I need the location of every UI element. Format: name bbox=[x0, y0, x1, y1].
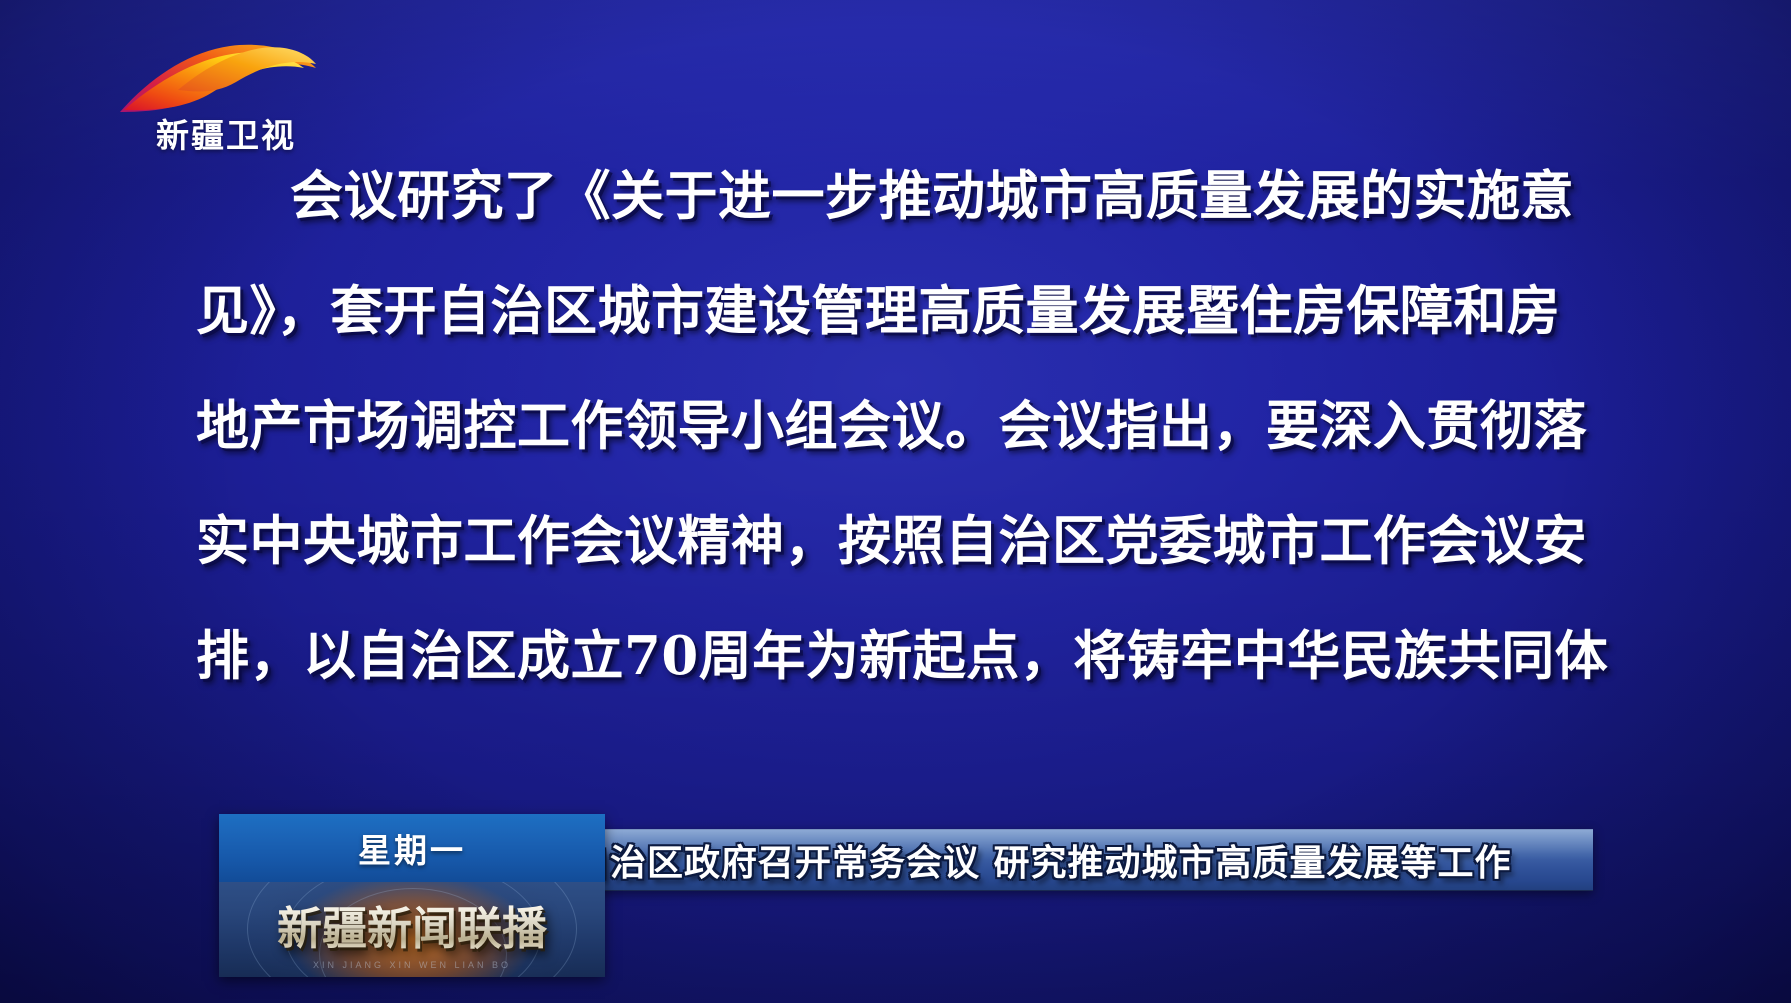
channel-logo: 新疆卫视 bbox=[108, 38, 338, 158]
weekday-label: 星期一 bbox=[358, 824, 466, 872]
body-line: 地产市场调控工作领导小组会议。会议指出，要深入贯彻落 bbox=[196, 380, 1596, 495]
body-line: 排，以自治区成立70周年为新起点，将铸牢中华民族共同体 bbox=[196, 610, 1596, 725]
news-body-text: 会议研究了《关于进一步推动城市高质量发展的实施意 见》，套开自治区城市建设管理高… bbox=[196, 150, 1596, 725]
body-line: 实中央城市工作会议精神，按照自治区党委城市工作会议安 bbox=[196, 495, 1596, 610]
headline-text: 自治区政府召开常务会议 研究推动城市高质量发展等工作 bbox=[573, 829, 1583, 891]
weekday-bar: 星期一 bbox=[219, 814, 605, 882]
body-line: 会议研究了《关于进一步推动城市高质量发展的实施意 bbox=[196, 150, 1596, 265]
program-identity-block: 星期一 新疆新闻联播 XIN JIANG XIN WEN LIAN BO bbox=[219, 814, 605, 977]
program-pinyin-label: XIN JIANG XIN WEN LIAN BO bbox=[219, 960, 605, 970]
broadcast-screen: 新疆卫视 会议研究了《关于进一步推动城市高质量发展的实施意 见》，套开自治区城市… bbox=[0, 0, 1791, 1003]
body-line: 见》，套开自治区城市建设管理高质量发展暨住房保障和房 bbox=[196, 265, 1596, 380]
program-name-plate: 新疆新闻联播 XIN JIANG XIN WEN LIAN BO bbox=[219, 882, 605, 977]
flame-swoosh-icon bbox=[108, 38, 338, 118]
program-name-label: 新疆新闻联播 bbox=[219, 890, 605, 958]
